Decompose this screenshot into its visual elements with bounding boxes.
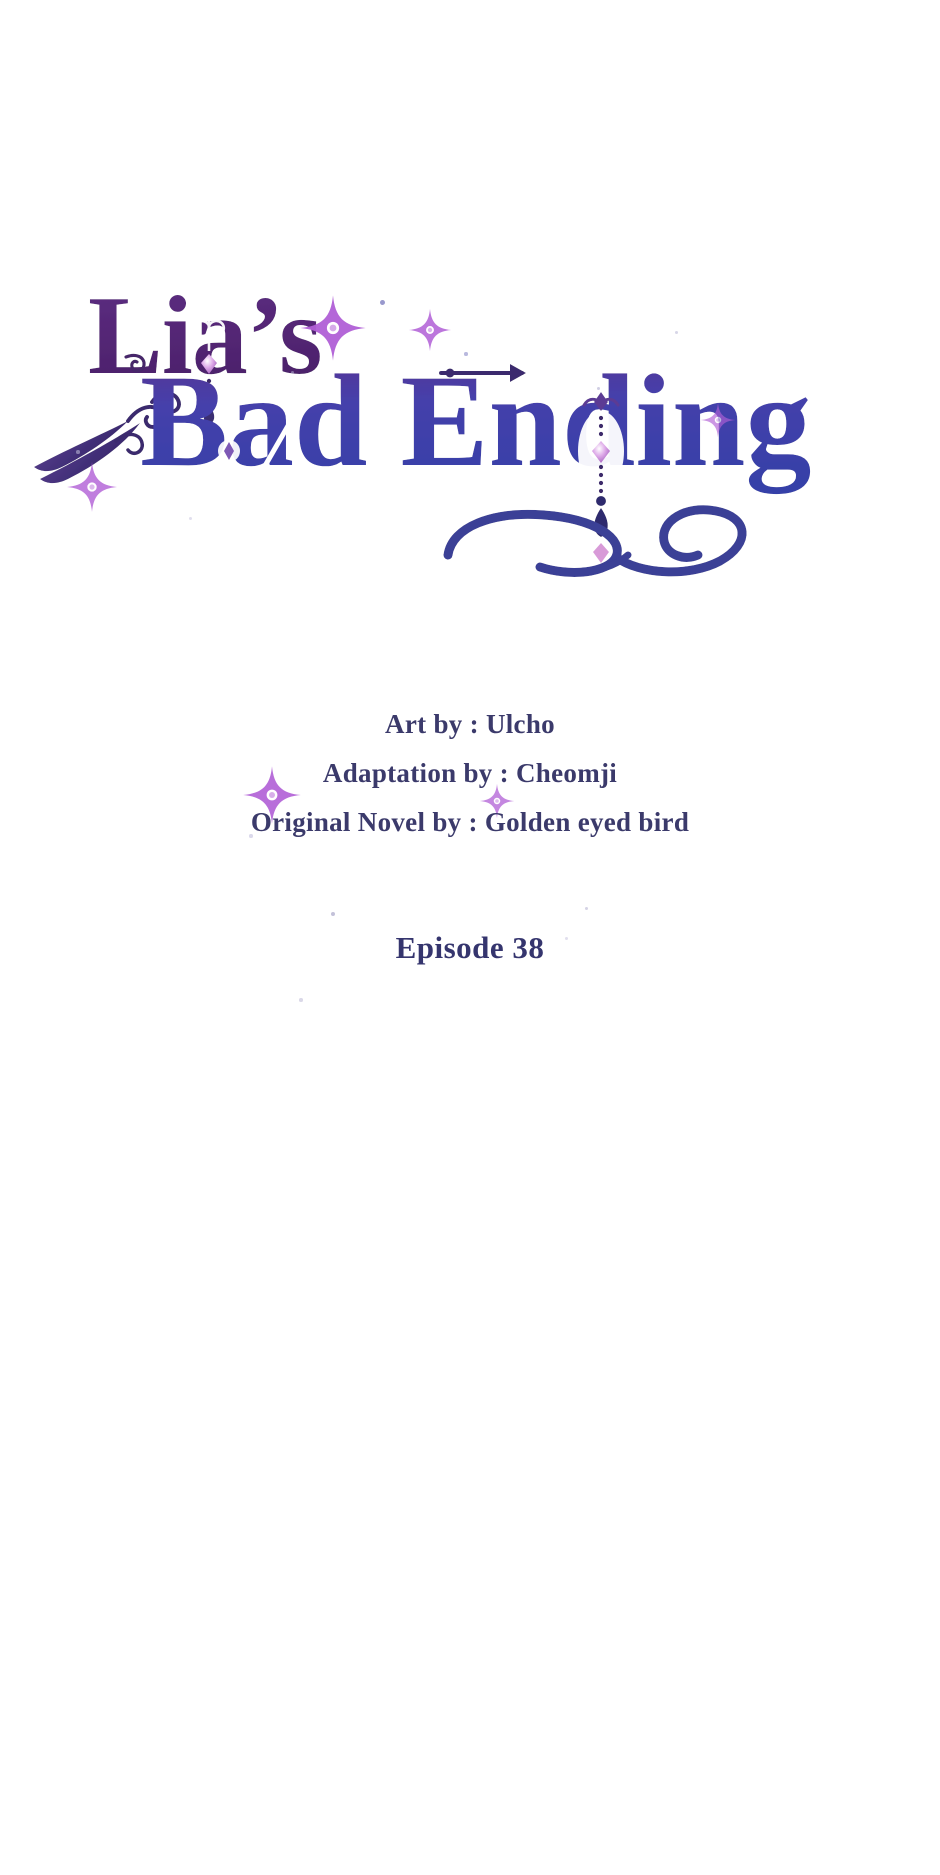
dot-10 [585, 907, 588, 910]
credits-block: Art by : Ulcho Adaptation by : Cheomji O… [0, 700, 940, 847]
title-logo-svg: Lia’s [0, 255, 940, 585]
bottom-swirl-flourish [448, 510, 742, 573]
credit-line-art: Art by : Ulcho [0, 700, 940, 749]
title-line2-text: Bad Ending [140, 347, 811, 494]
dot-12 [299, 998, 303, 1002]
series-title-logo: Lia’s [0, 255, 940, 585]
episode-block: Episode 38 [0, 930, 940, 966]
credit-line-adaptation: Adaptation by : Cheomji [0, 749, 940, 798]
title-card-page: Lia’s [0, 0, 940, 1875]
dot-8 [331, 912, 335, 916]
credit-line-original-novel: Original Novel by : Golden eyed bird [0, 798, 940, 847]
episode-label: Episode 38 [396, 930, 545, 966]
